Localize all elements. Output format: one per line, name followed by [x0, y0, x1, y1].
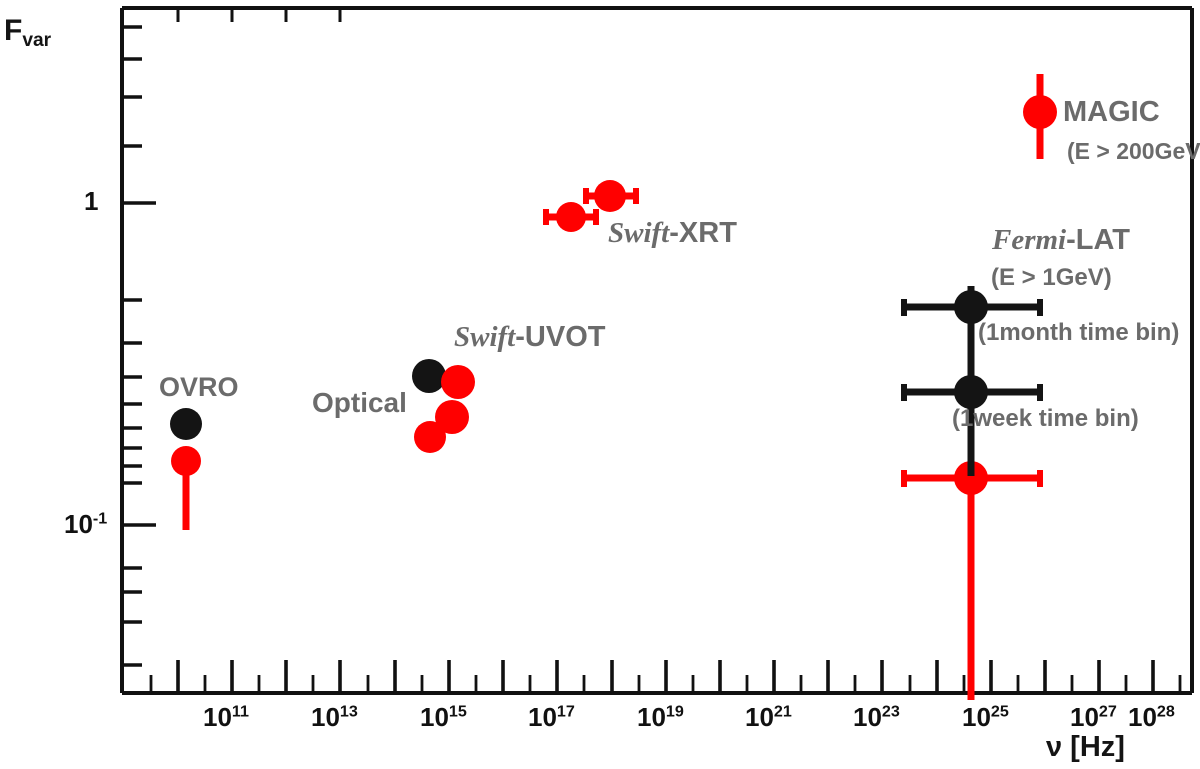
x-tick-label-1e15: 1015	[420, 704, 467, 730]
annotation-month-time-bin: (1month time bin)	[978, 321, 1179, 345]
x-tick-label-1e27: 1027	[1070, 704, 1117, 730]
x-tick-label-1e21: 1021	[745, 704, 792, 730]
annotation-swift-uvot: Swift-UVOT	[454, 323, 605, 352]
datapoint-ovro-red	[171, 446, 201, 530]
x-tick-label-1e23: 1023	[853, 704, 900, 730]
x-tick-label-1e28: 1028	[1128, 704, 1175, 730]
annotation-swift-uvot-italic: Swift	[454, 321, 515, 353]
annotation-optical: Optical	[312, 389, 407, 417]
y-tick-label-10e-1: 10-1	[64, 511, 107, 537]
datapoint-uvot-red-1	[441, 365, 475, 399]
annotation-fermi-rest: -LAT	[1066, 224, 1130, 256]
datapoint-uvot-red-3	[414, 421, 446, 453]
annotation-swift-xrt: Swift-XRT	[608, 219, 737, 248]
x-axis-title: ν [Hz]	[1046, 733, 1125, 762]
datapoint-xrt-red-1	[545, 202, 597, 232]
x-tick-label-1e17: 1017	[528, 704, 575, 730]
datapoint-fermi-red	[903, 461, 1042, 700]
annotation-magic: MAGIC	[1063, 98, 1160, 127]
y-tick-label-1: 1	[84, 188, 98, 214]
x-tick-label-1e11: 1011	[203, 704, 249, 730]
fvar-vs-frequency-plot: Fvar ν [Hz] 1 10-1 1011 1013 1015 1017 1…	[0, 0, 1200, 769]
annotation-magic-energy: (E > 200GeV)	[1067, 140, 1200, 163]
annotation-ovro: OVRO	[159, 374, 239, 401]
annotation-swift-uvot-rest: -UVOT	[515, 321, 605, 353]
datapoint-xrt-red-2	[585, 180, 637, 212]
datapoint-ovro-black	[170, 408, 202, 440]
annotation-fermi-lat: Fermi-LAT	[992, 226, 1130, 255]
y-axis-title: Fvar	[4, 16, 51, 46]
annotation-fermi-energy: (E > 1GeV)	[991, 266, 1112, 290]
datapoint-magic-red	[1023, 74, 1057, 159]
annotation-fermi-italic: Fermi	[992, 224, 1066, 256]
x-tick-label-1e13: 1013	[311, 704, 358, 730]
datapoint-uvot-black	[412, 359, 446, 393]
annotation-week-time-bin: (1week time bin)	[952, 407, 1139, 431]
x-tick-label-1e25: 1025	[962, 704, 1009, 730]
annotation-swift-xrt-italic: Swift	[608, 217, 669, 249]
x-tick-label-1e19: 1019	[637, 704, 684, 730]
annotation-swift-xrt-rest: -XRT	[669, 217, 737, 249]
y-axis-ticks	[122, 27, 156, 665]
